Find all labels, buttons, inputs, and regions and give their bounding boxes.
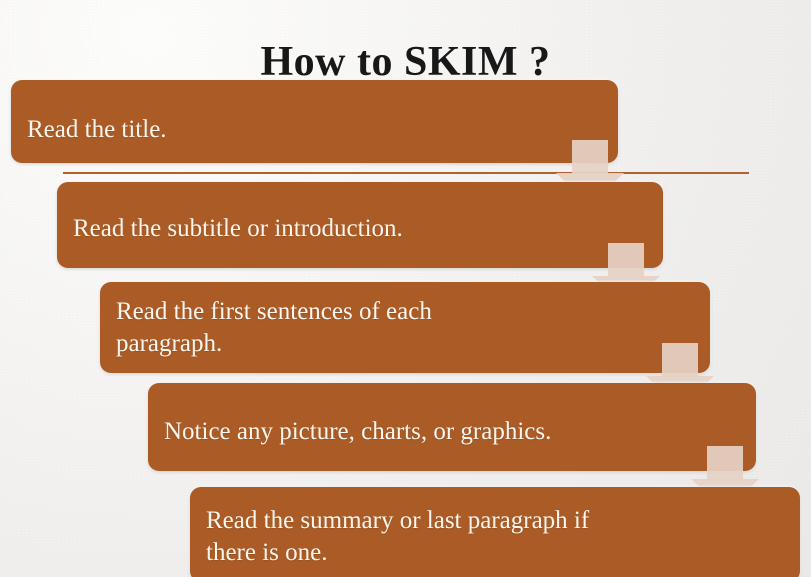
step-box-3[interactable]: Read the first sentences of each paragra… (100, 282, 710, 373)
step-1-text: Read the title. (27, 98, 167, 146)
title-divider-rule (63, 172, 749, 174)
step-box-5[interactable]: Read the summary or last paragraph if th… (190, 487, 800, 577)
step-3-text: Read the first sentences of each paragra… (116, 296, 432, 360)
slide-canvas: How to SKIM ? Read the title. Read the s… (0, 0, 811, 577)
step-5-text: Read the summary or last paragraph if th… (206, 501, 589, 569)
step-box-4[interactable]: Notice any picture, charts, or graphics. (148, 383, 756, 471)
step-2-text: Read the subtitle or introduction. (73, 205, 403, 245)
step-4-text: Notice any picture, charts, or graphics. (164, 406, 551, 448)
step-box-2[interactable]: Read the subtitle or introduction. (57, 182, 663, 268)
step-box-1[interactable]: Read the title. (11, 80, 618, 163)
